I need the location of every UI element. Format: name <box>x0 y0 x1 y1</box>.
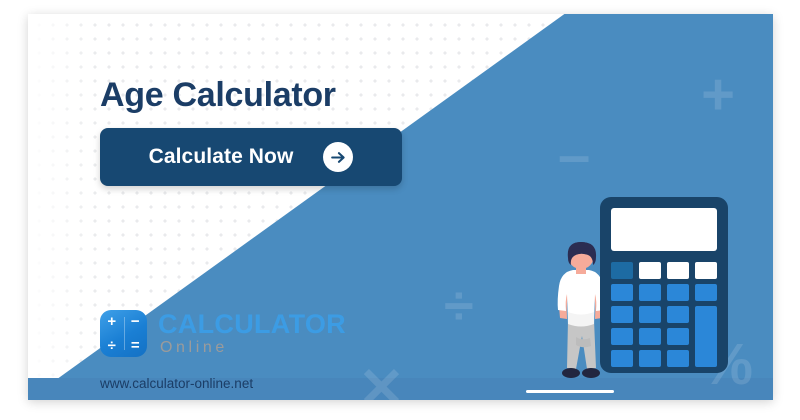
website-url[interactable]: www.calculator-online.net <box>100 376 253 391</box>
minus-glyph-icon: – <box>558 127 590 185</box>
times-glyph-icon: ✕ <box>358 360 405 400</box>
brand-name-primary: CALCULATOR <box>158 311 346 338</box>
calculator-key <box>639 262 661 279</box>
calculator-key <box>611 350 633 367</box>
calculator-key <box>667 284 689 301</box>
calculator-key <box>639 306 661 323</box>
calculator-key <box>667 350 689 367</box>
calculator-logo-icon: + − ÷ = <box>100 310 147 357</box>
logo-minus-symbol: − <box>131 314 140 329</box>
calculator-key <box>695 262 717 279</box>
logo-equals-symbol: = <box>131 338 140 353</box>
screenshot-root: + – ÷ ✕ % Age Calculator Calculate Now +… <box>0 0 800 420</box>
calculate-now-label: Calculate Now <box>149 145 294 169</box>
divide-glyph-icon: ÷ <box>444 279 474 333</box>
brand-name-secondary: Online <box>160 340 346 356</box>
calculator-key <box>667 306 689 323</box>
calculator-key <box>639 284 661 301</box>
calculator-key <box>611 284 633 301</box>
plus-glyph-icon: + <box>701 66 735 124</box>
page-title: Age Calculator <box>100 76 336 115</box>
calculator-key <box>639 328 661 345</box>
floor-line <box>526 390 614 393</box>
left-fade-overlay <box>28 14 98 400</box>
calculate-now-button[interactable]: Calculate Now <box>100 128 402 186</box>
calculator-key <box>611 262 633 279</box>
calculator-key <box>695 284 717 301</box>
calculator-key-equals <box>695 306 717 367</box>
calculator-illustration <box>600 197 728 373</box>
calculator-key <box>611 306 633 323</box>
calculator-key <box>667 262 689 279</box>
arrow-right-circle-icon <box>323 142 353 172</box>
logo-plus-symbol: + <box>107 314 116 329</box>
brand-logo[interactable]: + − ÷ = CALCULATOR Online <box>100 310 346 357</box>
calculator-key <box>667 328 689 345</box>
calculator-key <box>611 328 633 345</box>
brand-wordmark: CALCULATOR Online <box>158 311 346 356</box>
calculator-keypad <box>611 262 717 367</box>
banner-card: + – ÷ ✕ % Age Calculator Calculate Now +… <box>28 14 773 400</box>
calculator-key <box>639 350 661 367</box>
calculator-display <box>611 208 717 251</box>
logo-divide-symbol: ÷ <box>108 338 116 353</box>
